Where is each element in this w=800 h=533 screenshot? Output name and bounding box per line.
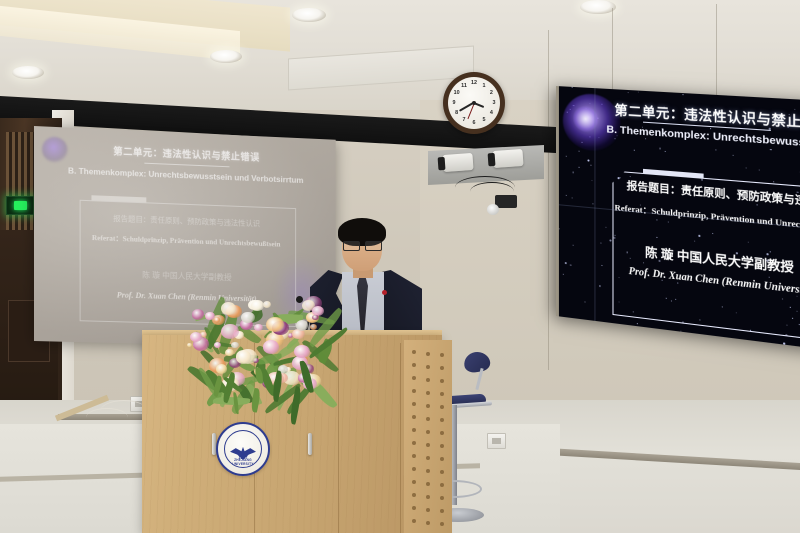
led-display: 第二单元：违法性认识与禁止错误 B. Themenkomplex: Unrech…	[556, 86, 800, 349]
slide-subtitle-de: B. Themenkomplex: Unrechtsbewusstsein un…	[34, 164, 336, 186]
downlight-icon	[580, 0, 616, 14]
camera-lens-icon	[487, 204, 499, 215]
led-panel-seam	[594, 88, 595, 321]
eyeglasses-icon	[343, 241, 382, 249]
university-emblem: 1897 ZHEJIANG UNIVERSITY	[216, 422, 270, 476]
cabinet-handle[interactable]	[308, 433, 312, 455]
podium-side-column	[404, 340, 452, 533]
downlight-icon	[210, 50, 242, 63]
exit-sign-icon: EXIT	[6, 196, 34, 215]
slide-title-zh: 第二单元：违法性认识与禁止错误	[34, 140, 336, 167]
wall-speaker-icon	[492, 149, 523, 168]
wall-outlet[interactable]	[487, 433, 506, 449]
flower-arrangement	[176, 292, 326, 407]
emblem-name: ZHEJIANG UNIVERSITY	[225, 458, 261, 466]
air-vent	[288, 45, 474, 90]
podium-panel-seam	[400, 343, 401, 533]
slide-divider	[144, 163, 229, 168]
podium-panel-seam	[338, 343, 339, 533]
clock-center-pin	[472, 101, 476, 105]
wall-clock: 121234567891011 3:40	[443, 72, 505, 134]
peg-holes	[404, 340, 452, 533]
clock-face: 121234567891011	[448, 77, 500, 129]
floor-cable	[86, 408, 128, 427]
wall-speaker-icon	[442, 153, 473, 172]
lecture-hall-photo: EXIT 第二单元：违法性认识与禁止错误 B. Themenkomplex: U…	[0, 0, 800, 533]
downlight-icon	[292, 8, 326, 22]
wall-panel-seam	[548, 30, 549, 370]
downlight-icon	[12, 66, 44, 79]
lapel-pin	[382, 290, 387, 295]
